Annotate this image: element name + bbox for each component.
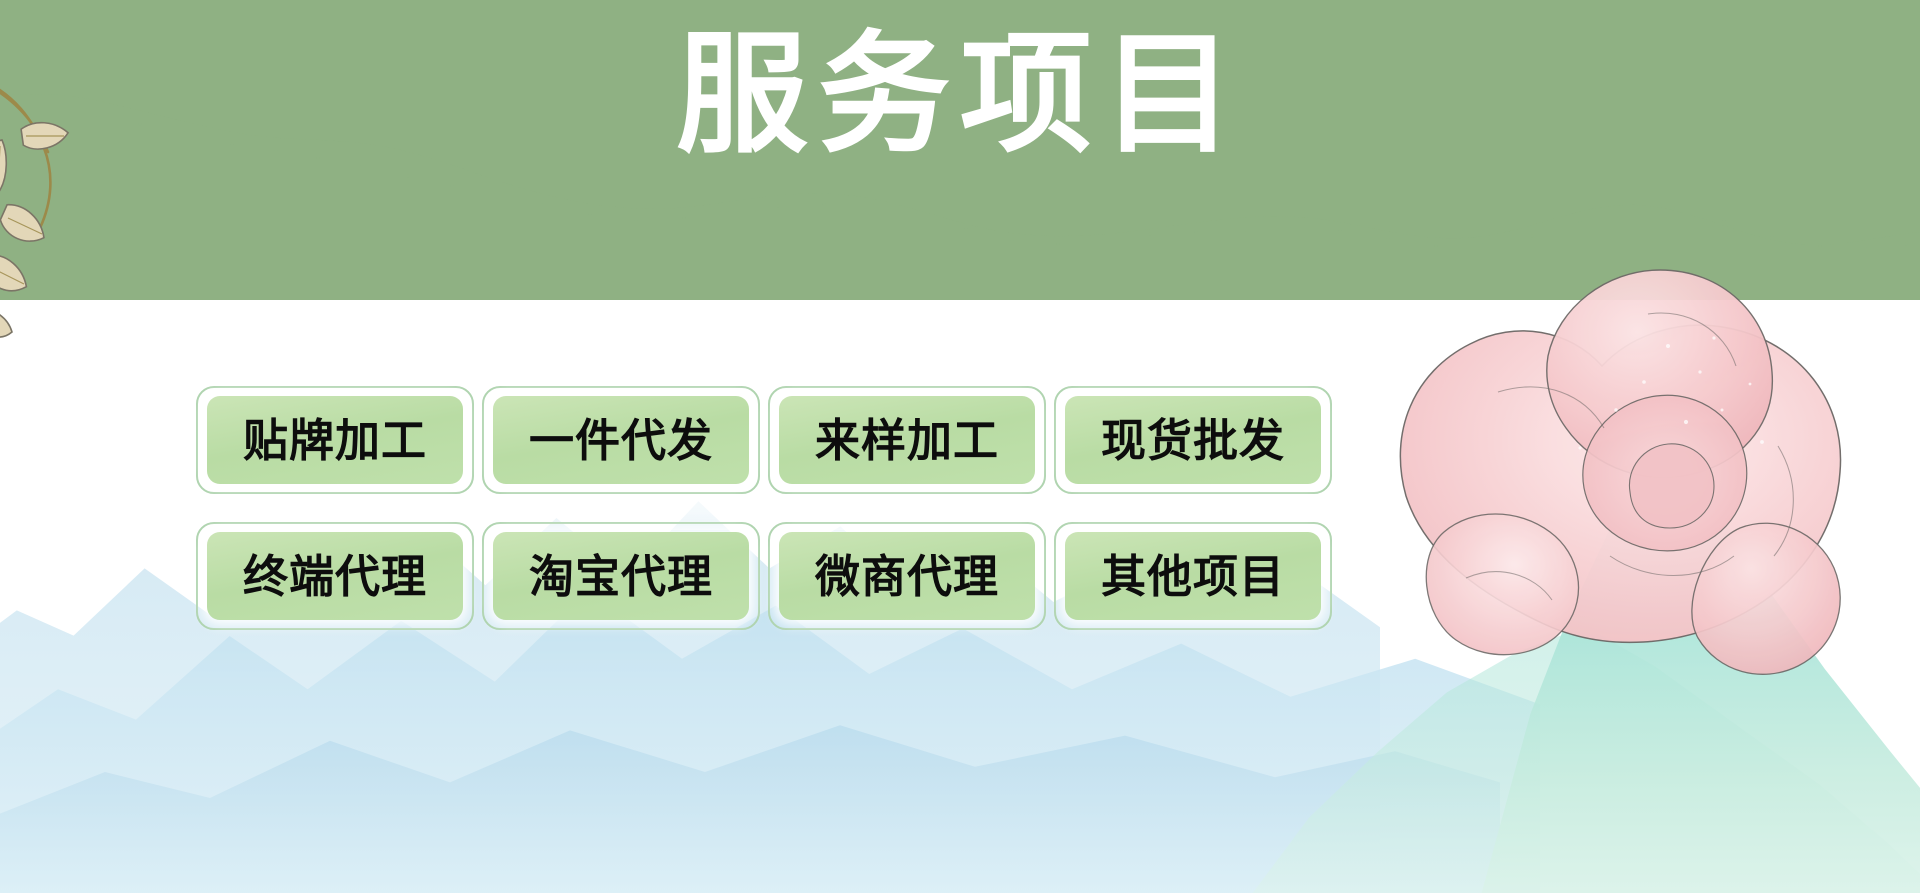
service-button-yijian-daifa[interactable]: 一件代发 [482,386,760,494]
service-button-zhongduan-daili[interactable]: 终端代理 [196,522,474,630]
service-button-fill: 微商代理 [779,532,1035,620]
page-title: 服务项目 [0,28,1920,163]
service-button-tiepai-jiagong[interactable]: 贴牌加工 [196,386,474,494]
service-button-fill: 其他项目 [1065,532,1321,620]
service-button-label: 其他项目 [1101,554,1285,599]
poster-canvas: 服务项目 [0,0,1920,893]
mountain-blue-near [0,642,1500,893]
service-button-laiyang-jiagong[interactable]: 来样加工 [768,386,1046,494]
mountain-teal [1300,454,1920,893]
service-button-grid: 贴牌加工 一件代发 来样加工 现货批发 终端代理 淘宝代理 [196,386,1386,658]
service-button-fill: 贴牌加工 [207,396,463,484]
service-button-weishang-daili[interactable]: 微商代理 [768,522,1046,630]
service-button-label: 现货批发 [1101,418,1285,463]
service-button-fill: 一件代发 [493,396,749,484]
service-button-fill: 淘宝代理 [493,532,749,620]
sky-strip [0,0,1920,14]
service-button-fill: 终端代理 [207,532,463,620]
service-button-fill: 来样加工 [779,396,1035,484]
service-button-taobao-daili[interactable]: 淘宝代理 [482,522,760,630]
service-button-label: 一件代发 [529,418,713,463]
service-button-fill: 现货批发 [1065,396,1321,484]
service-button-qita-xiangmu[interactable]: 其他项目 [1054,522,1332,630]
service-button-label: 贴牌加工 [243,418,427,463]
watercolor-rose-icon [1348,196,1920,716]
service-button-label: 来样加工 [815,418,999,463]
service-button-xianhuo-pifa[interactable]: 现货批发 [1054,386,1332,494]
service-button-label: 微商代理 [815,554,999,599]
service-button-label: 淘宝代理 [529,554,713,599]
service-button-label: 终端代理 [243,554,427,599]
